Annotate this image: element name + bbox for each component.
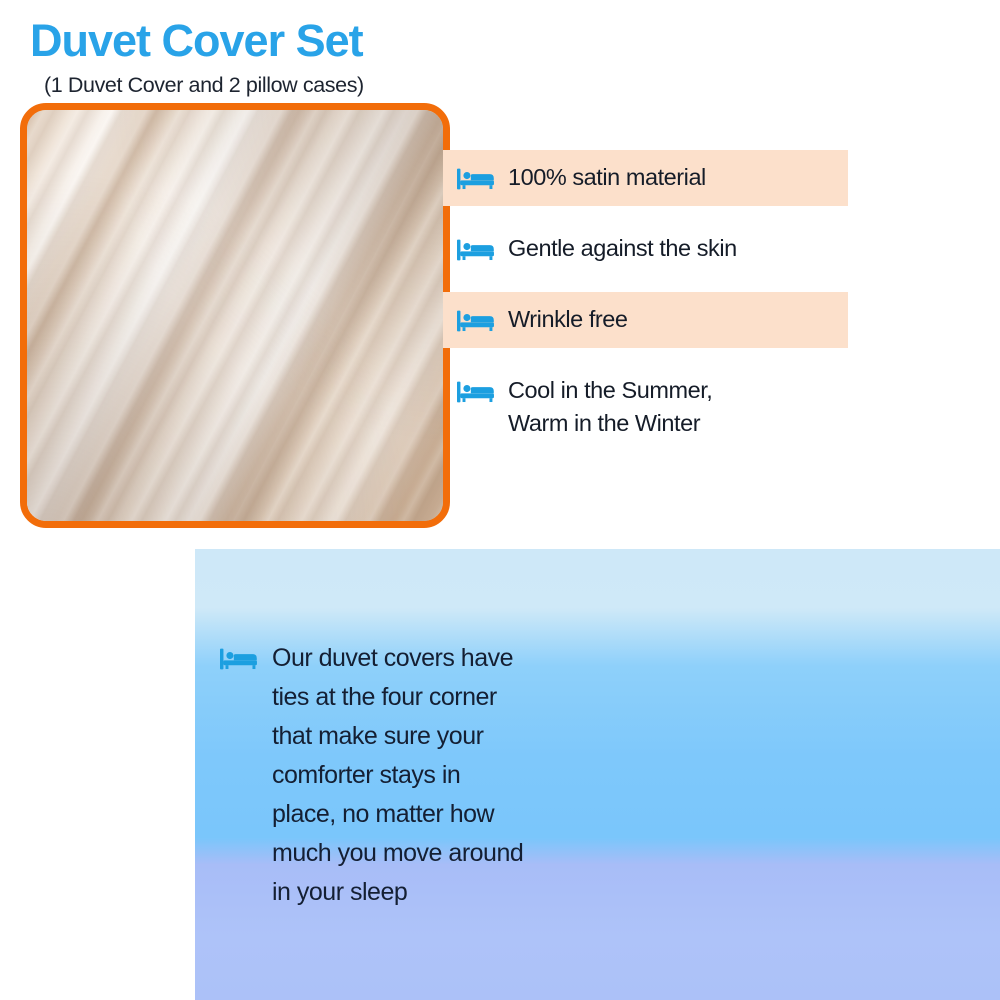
- ties-description-label: Our duvet covers have ties at the four c…: [272, 639, 523, 912]
- bed-icon: [220, 646, 258, 672]
- satin-fabric-photo: [20, 103, 450, 528]
- feature-item-cool-summer-warm-winter: Cool in the Summer, Warm in the Winter: [443, 363, 848, 452]
- product-infographic: Duvet Cover Set (1 Duvet Cover and 2 pil…: [0, 0, 1000, 1000]
- bed-icon: [457, 166, 495, 192]
- feature-item-satin-material: 100% satin material: [443, 150, 848, 206]
- feature-label: Gentle against the skin: [508, 232, 737, 265]
- feature-label: 100% satin material: [508, 161, 706, 194]
- feature-list: 100% satin material Gentle against the s…: [443, 150, 1000, 467]
- bed-icon: [457, 308, 495, 334]
- bed-icon: [457, 379, 495, 405]
- ties-description: Our duvet covers have ties at the four c…: [220, 639, 600, 912]
- feature-item-gentle-skin: Gentle against the skin: [443, 221, 848, 277]
- page-subtitle: (1 Duvet Cover and 2 pillow cases): [30, 63, 460, 98]
- bed-icon: [457, 237, 495, 263]
- feature-item-wrinkle-free: Wrinkle free: [443, 292, 848, 348]
- ties-feature-panel: Our duvet covers have ties at the four c…: [195, 549, 1000, 1000]
- feature-label: Wrinkle free: [508, 303, 628, 336]
- feature-label: Cool in the Summer, Warm in the Winter: [508, 374, 712, 441]
- header: Duvet Cover Set (1 Duvet Cover and 2 pil…: [0, 0, 460, 98]
- page-title: Duvet Cover Set: [30, 0, 460, 63]
- fabric-ridge-layer: [20, 103, 450, 528]
